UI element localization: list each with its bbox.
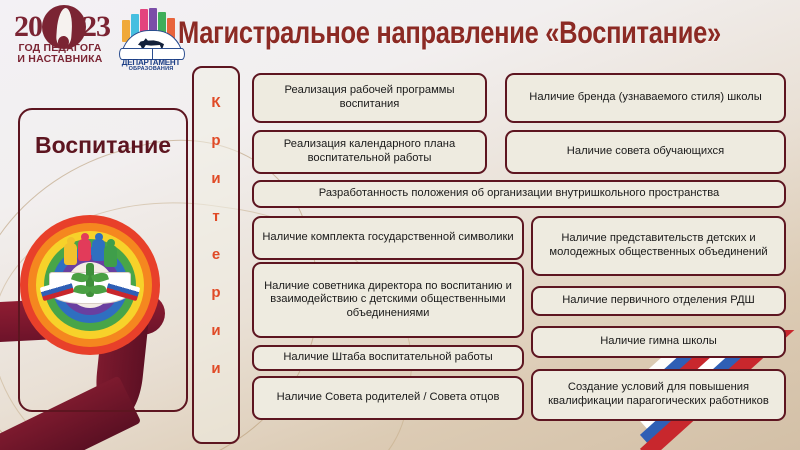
criterion-box[interactable]: Создание условий для повышения квалифика… xyxy=(531,369,786,421)
year-of-teacher-logo: 20 23 ГОД ПЕДАГОГА И НАСТАВНИКА xyxy=(8,2,112,62)
department-title-line2: ОБРАЗОВАНИЯ xyxy=(118,66,184,72)
criterion-box[interactable]: Наличие первичного отделения РДШ xyxy=(531,286,786,316)
criterion-box[interactable]: Наличие советника директора по воспитани… xyxy=(252,262,524,338)
criteria-letter: и xyxy=(194,312,238,350)
criteria-strip-label: К р и т е р и и xyxy=(194,84,238,388)
criterion-box[interactable]: Наличие бренда (узнаваемого стиля) школы xyxy=(505,73,786,123)
criteria-strip: К р и т е р и и xyxy=(192,66,240,444)
criteria-letter: е xyxy=(194,236,238,274)
left-panel-label: Воспитание xyxy=(20,132,186,159)
logo-year-left: 20 xyxy=(14,10,42,44)
department-of-education-logo: ДЕПАРТАМЕНТ ОБРАЗОВАНИЯ xyxy=(118,8,184,72)
criterion-box-fullwidth[interactable]: Разработанность положения об организации… xyxy=(252,180,786,208)
criteria-letter: и xyxy=(194,350,238,388)
criterion-box[interactable]: Наличие Штаба воспитательной работы xyxy=(252,345,524,371)
criterion-box[interactable]: Наличие совета обучающихся xyxy=(505,130,786,174)
criteria-letter: р xyxy=(194,122,238,160)
criteria-letter: т xyxy=(194,198,238,236)
criteria-letter: К xyxy=(194,84,238,122)
criterion-box[interactable]: Наличие представительств детских и молод… xyxy=(531,216,786,276)
criteria-letter: и xyxy=(194,160,238,198)
logo-caption-line2: И НАСТАВНИКА xyxy=(8,53,112,65)
criterion-box[interactable]: Наличие Совета родителей / Совета отцов xyxy=(252,376,524,420)
criterion-box[interactable]: Реализация календарного плана воспитател… xyxy=(252,130,487,174)
criterion-box[interactable]: Реализация рабочей программы воспитания xyxy=(252,73,487,123)
left-topic-panel: Воспитание xyxy=(18,108,188,412)
criterion-box[interactable]: Наличие комплекта государственной символ… xyxy=(252,216,524,260)
criteria-letter: р xyxy=(194,274,238,312)
logo-year-right: 23 xyxy=(82,10,110,44)
slide-canvas: 20 23 ГОД ПЕДАГОГА И НАСТАВНИКА ДЕПАРТАМ… xyxy=(0,0,800,450)
page-title: Магистральное направление «Воспитание» xyxy=(178,16,778,51)
criterion-box[interactable]: Наличие гимна школы xyxy=(531,326,786,358)
